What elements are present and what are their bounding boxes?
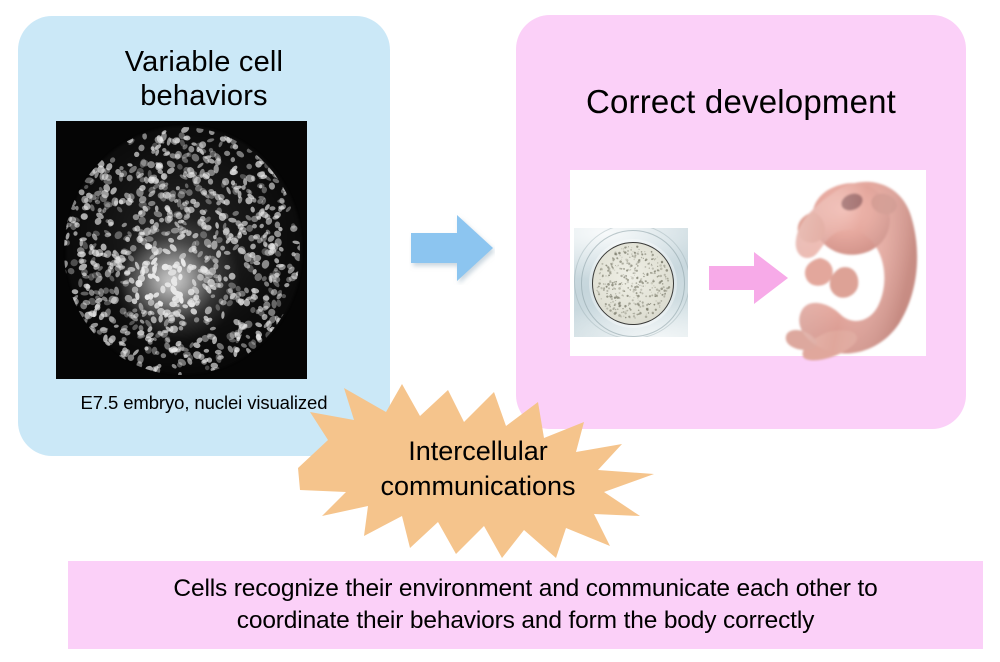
starburst-callout: Intercellular communications (298, 382, 658, 560)
blue-arrow-icon (409, 211, 495, 285)
newborn-mouse-photo (768, 164, 926, 362)
micrograph-container (56, 121, 307, 379)
bottom-summary-banner: Cells recognize their environment and co… (68, 561, 983, 649)
development-photo-plate (570, 170, 926, 356)
figure-canvas: Variable cell behaviors (0, 0, 1000, 662)
bottom-summary-text: Cells recognize their environment and co… (173, 573, 877, 637)
starburst-label: Intercellular communications (298, 434, 658, 503)
right-panel-title: Correct development (516, 83, 966, 121)
left-panel-title: Variable cell behaviors (18, 46, 390, 113)
fluorescence-micrograph (56, 121, 307, 379)
oocyte-zona-pellucida (592, 242, 674, 325)
cytoplasm-granules (593, 243, 673, 323)
oocyte-micrograph (574, 228, 688, 337)
nuclei-speckles (56, 121, 307, 379)
